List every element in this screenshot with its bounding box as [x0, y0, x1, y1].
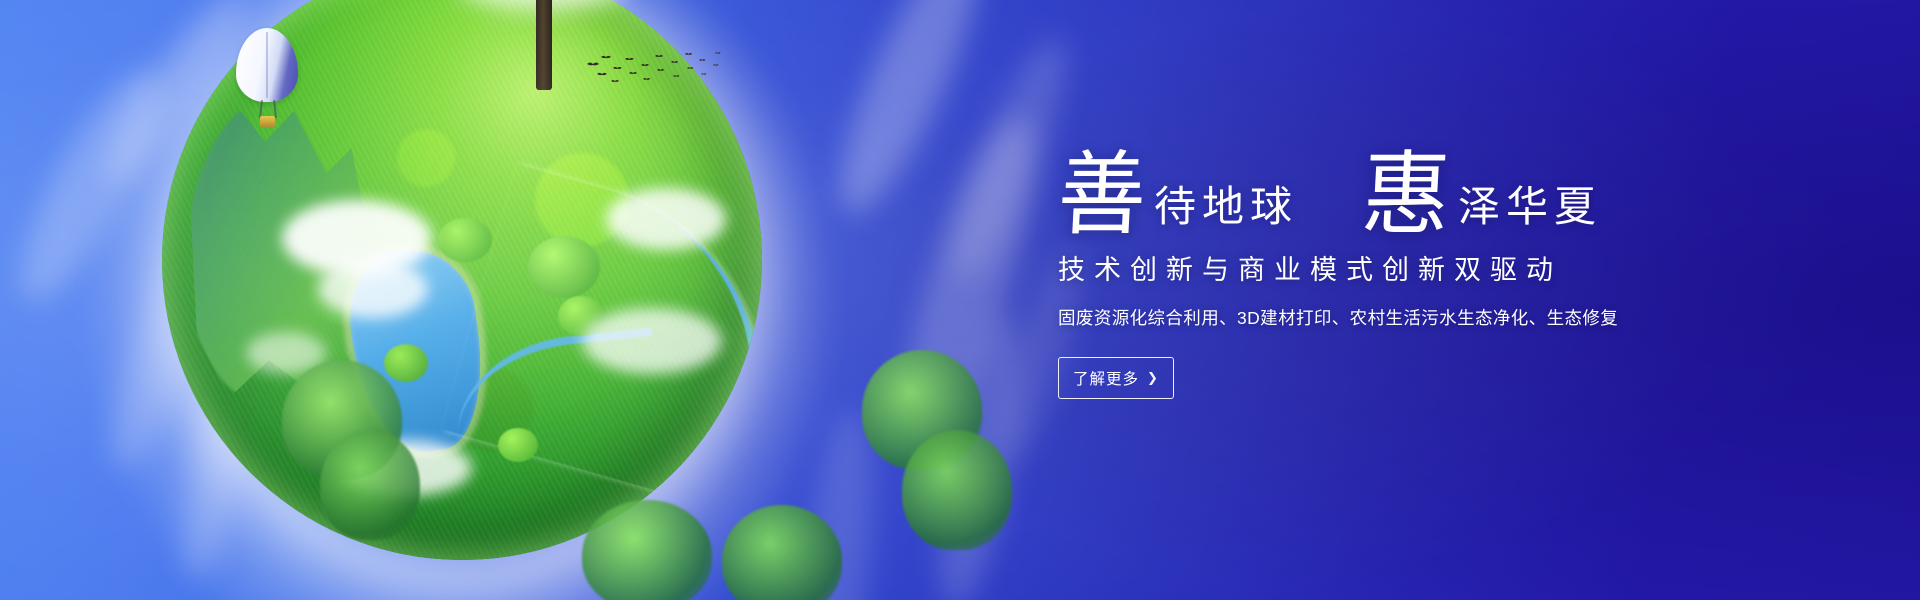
balloon-basket — [260, 116, 275, 127]
chevron-right-icon: ❯ — [1147, 370, 1159, 386]
tree-trunk — [536, 0, 552, 90]
services-list: 固废资源化综合利用、3D建材打印、农村生活污水生态净化、生态修复 — [1058, 306, 1778, 331]
headline-text-2: 泽华夏 — [1450, 186, 1602, 236]
learn-more-button[interactable]: 了解更多 ❯ — [1058, 357, 1174, 399]
hero-copy: 善 待地球 惠 泽华夏 技术创新与商业模式创新双驱动 固废资源化综合利用、3D建… — [1058, 140, 1778, 399]
tree-icon — [902, 430, 1012, 550]
birds-icon — [585, 48, 725, 90]
page-title: 善 待地球 惠 泽华夏 — [1058, 140, 1778, 236]
hero-banner: 善 待地球 惠 泽华夏 技术创新与商业模式创新双驱动 固废资源化综合利用、3D建… — [0, 0, 1920, 600]
learn-more-label: 了解更多 — [1073, 367, 1139, 389]
headline-text-1: 待地球 — [1146, 186, 1298, 236]
hot-air-balloon-icon — [236, 28, 298, 132]
balloon-envelope — [236, 28, 298, 102]
headline-char-1: 善 — [1056, 153, 1148, 237]
subtitle: 技术创新与商业模式创新双驱动 — [1058, 254, 1778, 286]
tree-icon — [582, 500, 712, 600]
tree-icon — [320, 430, 420, 540]
headline-char-2: 惠 — [1360, 153, 1452, 237]
